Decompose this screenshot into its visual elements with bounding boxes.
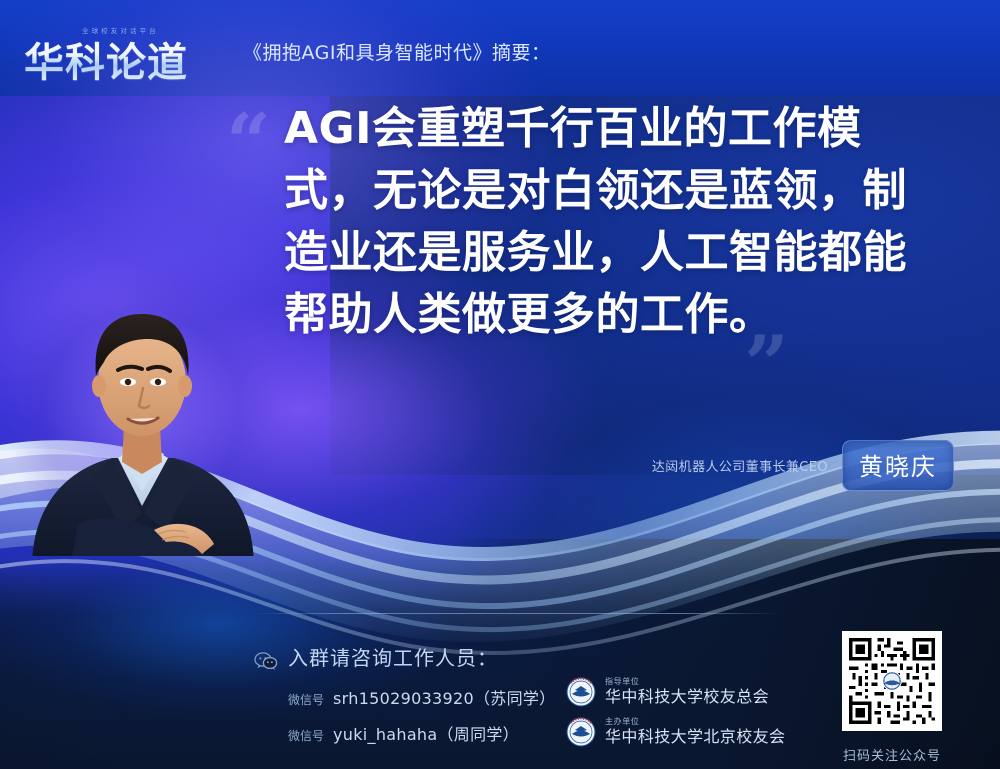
organization-text: 主办单位 华中科技大学北京校友会	[605, 718, 785, 745]
organization-text: 指导单位 华中科技大学校友总会	[605, 678, 769, 705]
poster-root: 全球校友对话平台 华科论道 《拥抱AGI和具身智能时代》摘要： “ ” AGI会…	[0, 0, 1000, 769]
speaker-role: 达闼机器人公司董事长兼CEO	[652, 456, 828, 475]
quote-line: 造业还是服务业，人工智能都能	[284, 222, 952, 284]
organization-row: 主办单位 华中科技大学北京校友会	[566, 715, 785, 749]
organization-row: 指导单位 华中科技大学校友总会	[566, 675, 785, 709]
qr-block: 扫码关注公众号	[834, 631, 950, 764]
contact-value: yuki_hahaha（周同学）	[333, 721, 519, 745]
portrait-illustration	[26, 278, 258, 568]
contact-label: 微信号	[288, 727, 324, 744]
organization-name: 华中科技大学校友总会	[605, 689, 769, 706]
qr-caption: 扫码关注公众号	[834, 745, 950, 764]
header-bar: 全球校友对话平台 华科论道 《拥抱AGI和具身智能时代》摘要：	[0, 0, 1000, 96]
wechat-icon	[254, 651, 278, 671]
quote-lines: AGI会重塑千行百业的工作模 式，无论是对白领还是蓝领，制 造业还是服务业，人工…	[232, 98, 952, 346]
attribution: 达闼机器人公司董事长兼CEO 黄晓庆	[652, 440, 954, 491]
contact-row: 微信号 yuki_hahaha（周同学）	[288, 721, 519, 745]
organization-name: 华中科技大学北京校友会	[605, 729, 785, 746]
brand-name: 华科论道	[24, 30, 188, 88]
contact-label: 微信号	[288, 691, 324, 708]
brand-logo[interactable]: 全球校友对话平台 华科论道	[24, 17, 219, 79]
qr-code[interactable]	[842, 631, 942, 731]
quote-line: 式，无论是对白领还是蓝领，制	[284, 160, 952, 222]
contact-value: srh15029033920（苏同学）	[333, 685, 555, 709]
page-title: 《拥抱AGI和具身智能时代》摘要：	[243, 38, 551, 65]
speaker-portrait	[26, 278, 258, 568]
hust-emblem-icon	[566, 717, 596, 747]
contact-heading: 入群请咨询工作人员：	[288, 642, 498, 671]
hust-emblem-icon	[566, 677, 596, 707]
footer-divider	[253, 613, 780, 614]
footer: 入群请咨询工作人员： 微信号 srh15029033920（苏同学） 微信号 y…	[0, 609, 1000, 769]
organization-kind: 指导单位	[605, 678, 769, 686]
quote-line: 帮助人类做更多的工作。	[284, 284, 952, 346]
quote-line: AGI会重塑千行百业的工作模	[284, 98, 952, 160]
speaker-name-badge: 黄晓庆	[842, 440, 954, 491]
organization-list: 指导单位 华中科技大学校友总会 主办单位 华中科技大学北京校友会	[566, 675, 785, 755]
organization-kind: 主办单位	[605, 718, 785, 726]
quote-block: “ ” AGI会重塑千行百业的工作模 式，无论是对白领还是蓝领，制 造业还是服务…	[232, 98, 952, 346]
contact-row: 微信号 srh15029033920（苏同学）	[288, 685, 555, 709]
